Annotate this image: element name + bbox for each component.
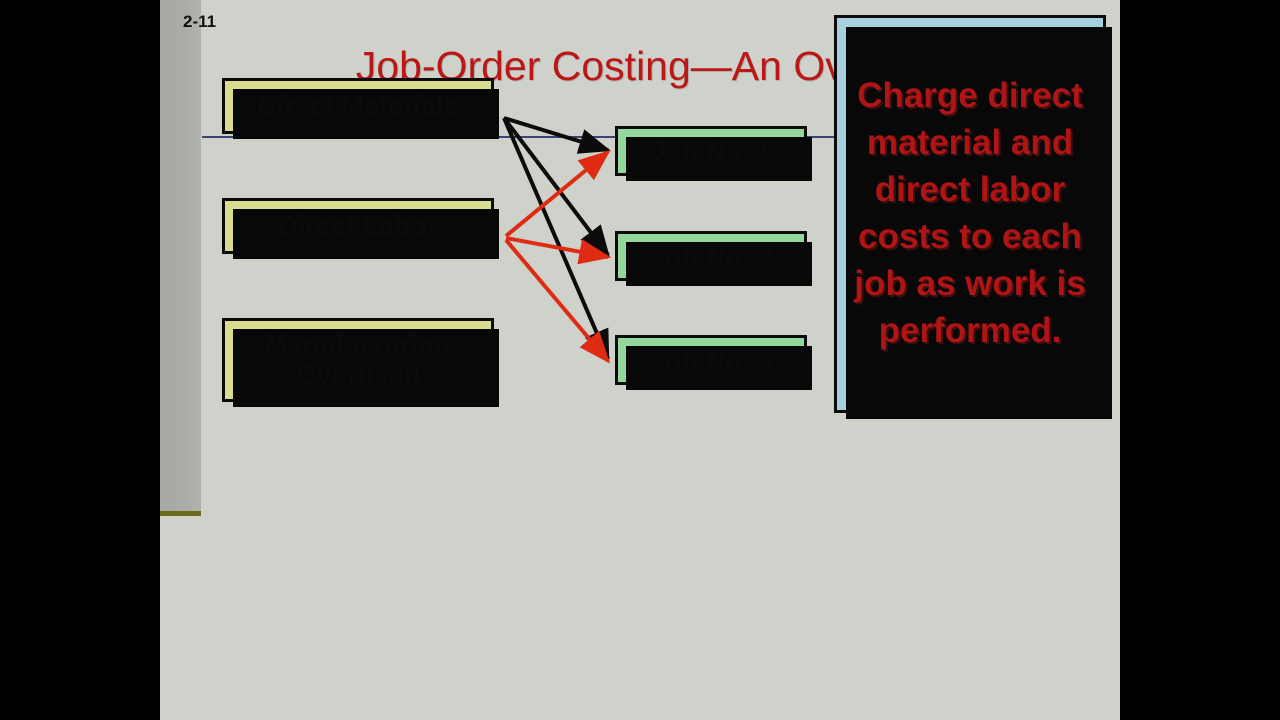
node-manufacturing-overhead-line-2: Overhead <box>296 360 421 390</box>
slide-canvas: 2-11 Job-Order Costing—An Overview <box>160 0 1120 720</box>
node-job-1-label: Job No. 1 <box>650 136 772 166</box>
connector-direct-labor-to-job-3 <box>506 240 608 361</box>
connector-direct-materials-to-job-1 <box>504 118 608 150</box>
connector-direct-materials-to-job-3 <box>504 118 608 359</box>
node-job-2-label: Job No. 2 <box>650 241 772 271</box>
node-direct-labor-label: Direct Labor <box>278 211 437 241</box>
screen: 2-11 Job-Order Costing—An Overview <box>0 0 1280 720</box>
callout-text: Charge direct material and direct labor … <box>837 73 1103 354</box>
node-manufacturing-overhead-label: Manufacturing Overhead <box>265 330 451 390</box>
node-direct-labor: Direct Labor <box>222 198 494 254</box>
slide-number: 2-11 <box>183 12 216 32</box>
node-manufacturing-overhead-line-1: Manufacturing <box>265 330 451 360</box>
connector-direct-materials-to-job-2 <box>504 118 608 255</box>
node-job-1: Job No. 1 <box>615 126 807 176</box>
node-job-2: Job No. 2 <box>615 231 807 281</box>
node-direct-materials-label: Direct Materials <box>257 91 458 121</box>
node-job-3-label: Job No. 3 <box>650 345 772 375</box>
left-band-end-cap <box>160 511 201 516</box>
node-job-3: Job No. 3 <box>615 335 807 385</box>
node-direct-materials: Direct Materials <box>222 78 494 134</box>
node-manufacturing-overhead: Manufacturing Overhead <box>222 318 494 402</box>
left-decorative-band <box>160 0 201 514</box>
connector-direct-labor-to-job-1 <box>506 152 608 236</box>
connector-direct-labor-to-job-2 <box>506 238 608 257</box>
callout-box: Charge direct material and direct labor … <box>834 15 1106 413</box>
